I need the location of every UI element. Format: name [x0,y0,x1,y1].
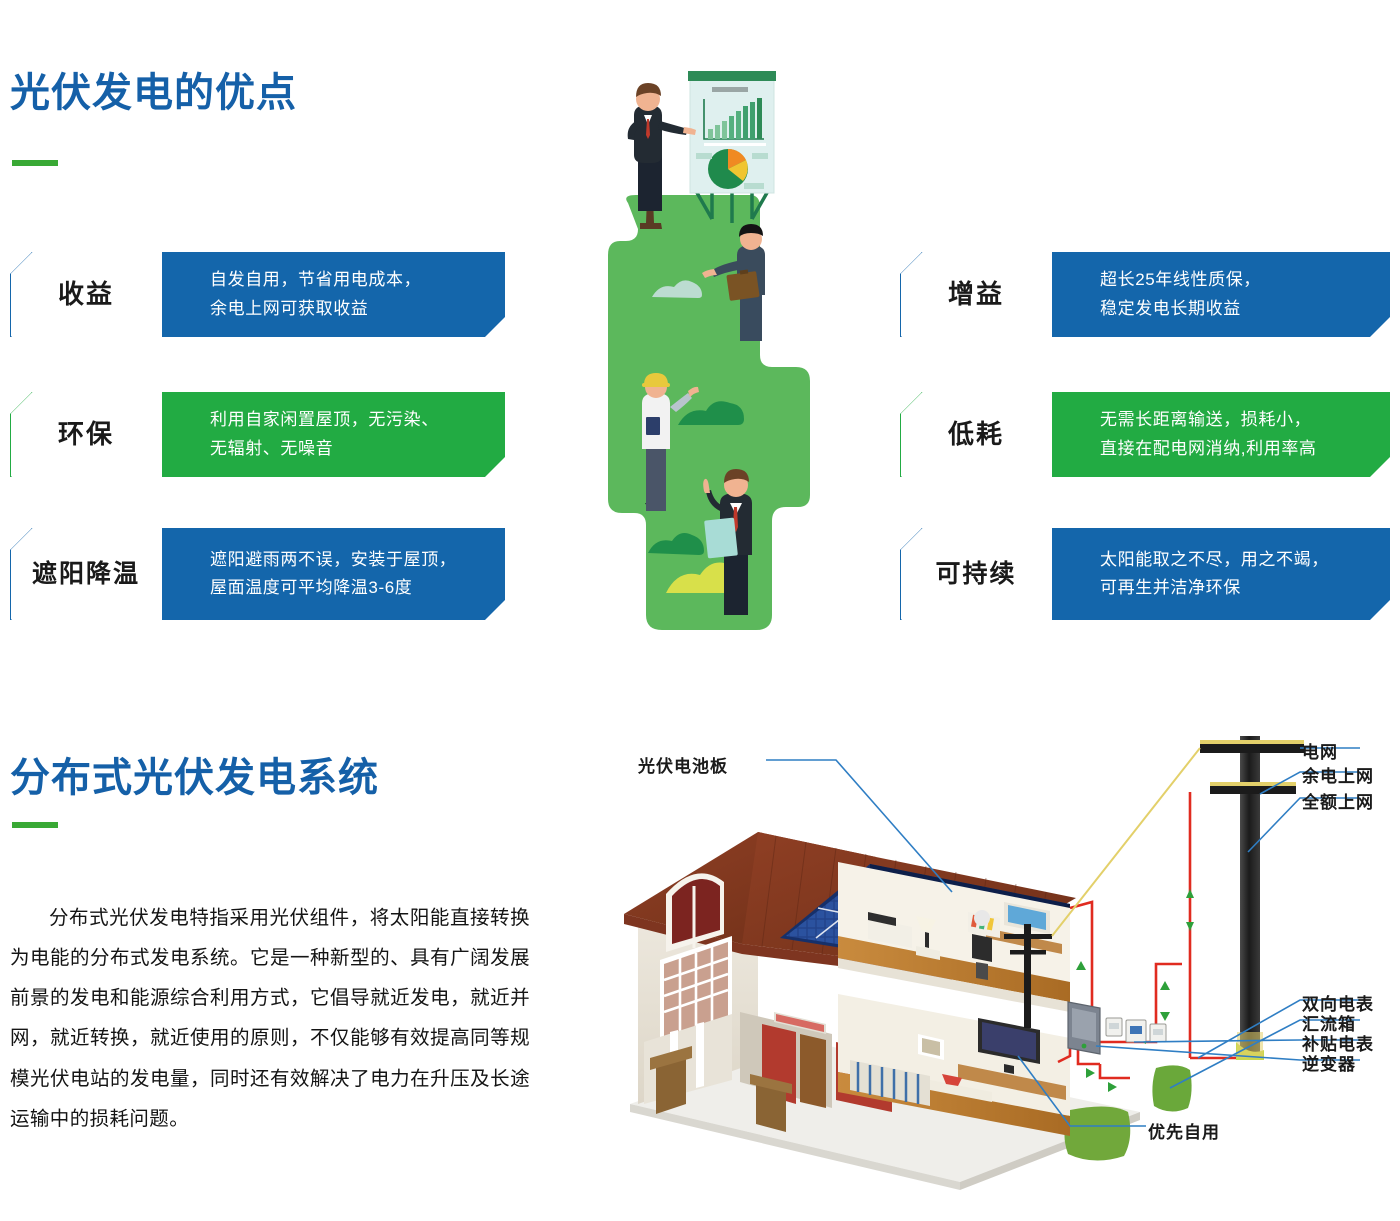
benefit-card-body: 超长25年线性质保， 稳定发电长期收益 [1052,252,1390,337]
benefit-card-body: 遮阳避雨两不误，安装于屋顶， 屋面温度可平均降温3-6度 [162,528,505,620]
benefit-card-line-2: 屋面温度可平均降温3-6度 [210,574,505,602]
benefit-card-label: 可持续 [900,528,1052,620]
callout-solar-panel: 光伏电池板 [638,752,728,777]
lamp-stand [925,932,929,948]
benefit-card-label: 收益 [10,252,162,337]
benefit-card-label-text: 收益 [58,280,114,309]
benefit-card-label: 增益 [900,252,1052,337]
benefit-card-dihao[interactable]: 低耗 无需长距离输送，损耗小， 直接在配电网消纳,利用率高 [900,392,1390,477]
benefit-card-line-1: 利用自家闲置屋顶，无污染、 [210,406,505,434]
benefit-card-body: 太阳能取之不尽，用之不竭， 可再生并洁净环保 [1052,528,1390,620]
section-title-distributed-system: 分布式光伏发电系统 [10,745,379,803]
benefit-card-label-text: 可持续 [935,560,1016,588]
label-corner-notch [8,527,32,551]
benefit-card-label: 遮阳 降温 [10,528,162,620]
callout-power-grid: 电网 [1302,738,1338,763]
office-chair [972,934,992,962]
callout-full-to-grid: 全额上网 [1302,788,1374,813]
benefit-card-huanbao[interactable]: 环保 利用自家闲置屋顶，无污染、 无辐射、无噪音 [10,392,505,477]
benefit-card-body: 无需长距离输送，损耗小， 直接在配电网消纳,利用率高 [1052,392,1390,477]
pillar [696,1022,704,1088]
house-system-diagram [600,712,1400,1217]
label-corner-notch [898,527,922,551]
title-rule-advantages [12,160,58,166]
flipchart [688,71,776,223]
callout-inverter: 逆变器 [1302,1050,1356,1075]
benefit-card-line-1: 无需长距离输送，损耗小， [1100,406,1390,434]
benefit-card-line-2: 可再生并洁净环保 [1100,574,1390,602]
benefit-card-body: 自发自用，节省用电成本， 余电上网可获取收益 [162,252,505,337]
benefit-card-label-text-line2: 降温 [86,560,140,588]
title-rule-distributed-system [12,822,58,828]
overhead-line [1052,748,1200,936]
benefit-card-line-1: 超长25年线性质保， [1100,266,1390,294]
benefit-card-shouyi[interactable]: 收益 自发自用，节省用电成本， 余电上网可获取收益 [10,252,505,337]
label-corner-notch [898,391,922,415]
benefit-card-line-1: 太阳能取之不尽，用之不竭， [1100,546,1390,574]
section-title-advantages: 光伏发电的优点 [10,60,297,118]
benefit-card-label: 低耗 [900,392,1052,477]
callout-surplus-to-grid: 余电上网 [1302,762,1374,787]
benefit-card-label-text: 增益 [948,280,1004,309]
benefit-card-zengyi[interactable]: 增益 超长25年线性质保， 稳定发电长期收益 [900,252,1390,337]
benefit-card-label: 环保 [10,392,162,477]
benefit-card-line-1: 自发自用，节省用电成本， [210,266,505,294]
benefit-card-label-text: 低耗 [948,420,1004,449]
benefit-card-line-2: 直接在配电网消纳,利用率高 [1100,435,1390,463]
distributed-system-paragraph: 分布式光伏发电特指采用光伏组件，将太阳能直接转换为电能的分布式发电系统。它是一种… [10,898,530,1139]
chair-base [976,962,988,980]
person-head [974,910,990,926]
benefit-card-line-2: 余电上网可获取收益 [210,295,505,323]
utility-pole [1200,736,1304,1060]
benefit-card-body: 利用自家闲置屋顶，无污染、 无辐射、无噪音 [162,392,505,477]
label-corner-notch [898,251,922,275]
benefit-card-zheyang-jiangwen[interactable]: 遮阳 降温 遮阳避雨两不误，安装于屋顶， 屋面温度可平均降温3-6度 [10,528,505,620]
callout-self-consumption: 优先自用 [1148,1118,1220,1143]
combiner-box [1152,1065,1191,1111]
benefit-card-line-2: 无辐射、无噪音 [210,435,505,463]
advantages-illustration [600,55,880,660]
benefit-card-label-text: 环保 [58,420,114,449]
page-root: 光伏发电的优点 收益 自发自用，节省用电成本， 余电上网可获取收益 环保 利用自… [0,0,1400,1221]
interior-floor [800,1034,826,1108]
label-corner-notch [8,251,32,275]
label-corner-notch [8,391,32,415]
benefit-card-kechixu[interactable]: 可持续 太阳能取之不尽，用之不竭， 可再生并洁净环保 [900,528,1390,620]
inverter-box [1068,1002,1100,1054]
benefit-card-label-text-line1: 遮阳 [32,560,86,588]
benefit-card-line-2: 稳定发电长期收益 [1100,295,1390,323]
lawn-patch [1064,1106,1130,1160]
benefit-card-line-1: 遮阳避雨两不误，安装于屋顶， [210,546,505,574]
